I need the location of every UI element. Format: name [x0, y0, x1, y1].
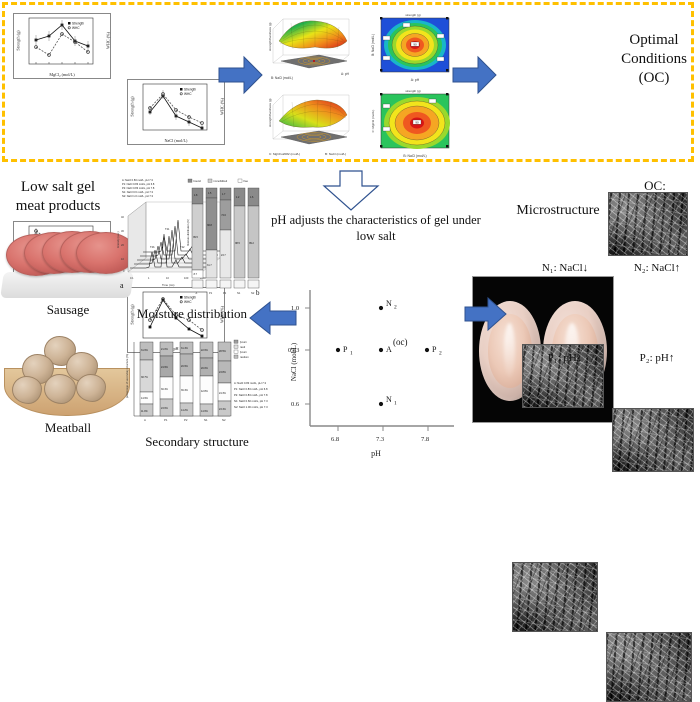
sem-image-p1 [512, 562, 598, 632]
arrow-right-icon-3 [464, 296, 508, 332]
axis-label-y-left: Strength (g) [16, 23, 21, 59]
svg-text:1: 1 [350, 351, 353, 357]
svg-text:A: A [386, 345, 392, 354]
svg-text:WHC: WHC [184, 92, 192, 96]
svg-text:percentage of secondary struct: percentage of secondary structure (%) [125, 354, 129, 398]
svg-text:N2: N2 [251, 291, 255, 295]
svg-text:A: A [144, 418, 146, 422]
meatball-photo [0, 330, 136, 418]
svg-text:6.8: 6.8 [331, 436, 339, 443]
svg-text:immobilized: immobilized [214, 179, 228, 183]
svg-text:1.0: 1.0 [291, 305, 299, 312]
svg-text:7.3: 7.3 [376, 436, 384, 443]
svg-text:free: free [244, 179, 249, 183]
svg-text:0.1: 0.1 [130, 276, 134, 280]
svg-text:P: P [432, 345, 437, 354]
svg-text:21.0%: 21.0% [161, 348, 169, 351]
rsm-optimization-panel: Strength WHC MgCl₂ (mol/L) Strength (g) … [2, 2, 694, 162]
svg-text:N2: N2 [222, 418, 226, 422]
contour-plot-ph-nacl: strength (g) 90 A: pH B: NaCl [367, 11, 459, 85]
axis-label-x: NaCl (mol/L) [128, 138, 224, 143]
line-chart-nacl: Strength WHC NaCl (mol/L) Strength (g) W… [127, 79, 225, 145]
svg-text:11.9%: 11.9% [141, 410, 148, 413]
svg-text:NaCl (mol/L): NaCl (mol/L) [290, 342, 298, 381]
svg-text:23.7: 23.7 [221, 254, 226, 257]
svg-text:31.4%: 31.4% [181, 347, 189, 350]
svg-text:N1: NaCl 0.60 mol/L, pH 7.3: N1: NaCl 0.60 mol/L, pH 7.3 [234, 399, 268, 403]
oc-line-2: Conditions [613, 50, 695, 69]
axis-label-x: MgCl₂ (mol/L) [14, 72, 110, 77]
optimal-conditions-caption: Optimal Conditions (OC) [613, 31, 695, 87]
svg-text:28.5%: 28.5% [219, 350, 227, 353]
svg-text:strength (g): strength (g) [405, 89, 420, 93]
oc-line-3: (OC) [613, 69, 695, 88]
svg-text:22.6%: 22.6% [201, 349, 209, 352]
svg-text:C: MgCl\u2082 (mol/L): C: MgCl\u2082 (mol/L) [269, 152, 300, 156]
svg-text:0.6: 0.6 [291, 401, 300, 408]
svg-text:P2: NaCl 0.83 mol/L, pH 7.8: P2: NaCl 0.83 mol/L, pH 7.8 [234, 393, 268, 397]
svg-text:N1: NaCl 0.6 mol/L, pH 7.3: N1: NaCl 0.6 mol/L, pH 7.3 [122, 190, 154, 194]
svg-text:T2b: T2b [150, 245, 155, 249]
microstructure-label: Microstructure [498, 203, 618, 219]
svg-text:a: a [120, 281, 124, 290]
svg-text:40: 40 [121, 215, 124, 219]
left-heading-line1: Low salt gel [2, 178, 114, 197]
svg-text:β-turn: β-turn [240, 340, 247, 344]
svg-text:89.2: 89.2 [249, 242, 254, 245]
svg-text:B: NaCl (mol/L): B: NaCl (mol/L) [371, 34, 375, 56]
svg-text:90: 90 [415, 121, 419, 125]
svg-text:Intensity (a.u.): Intensity (a.u.) [116, 231, 120, 248]
sem-image-oc [608, 192, 688, 256]
svg-text:89.5: 89.5 [193, 236, 198, 239]
svg-text:A: NaCl 0.83 mol/L, pH 7.3: A: NaCl 0.83 mol/L, pH 7.3 [234, 381, 266, 385]
svg-text:C: MgCl2 (mol/L): C: MgCl2 (mol/L) [371, 110, 375, 133]
svg-text:N: N [386, 395, 392, 404]
svg-text:WHC: WHC [184, 300, 192, 304]
svg-text:P1: P1 [209, 291, 213, 295]
svg-text:20: 20 [121, 243, 124, 247]
sem-label-p1: P₁: pH↓ [520, 352, 610, 364]
svg-text:0: 0 [123, 269, 125, 273]
sem-label-n1: N₁: NaCl↓ [520, 262, 610, 274]
svg-text:T22: T22 [180, 245, 185, 249]
svg-text:N: N [386, 299, 392, 308]
svg-text:24.9%: 24.9% [161, 366, 169, 369]
svg-text:P2: P2 [223, 291, 227, 295]
svg-text:2: 2 [394, 305, 397, 311]
svg-text:B: NaCl (mol/L): B: NaCl (mol/L) [325, 152, 346, 156]
surface-plot-ph-nacl: strength/hardness (g) B: NaCl (mol/L) A:… [263, 11, 363, 85]
svg-text:N2: NaCl 1.0 mol/L, pH 7.3: N2: NaCl 1.0 mol/L, pH 7.3 [122, 194, 154, 198]
surface-plot-nacl-mgcl2: strength/hardness (g) C: MgCl\u2082 (mol… [263, 87, 363, 161]
svg-text:38.7%: 38.7% [141, 376, 149, 379]
svg-text:A: pH: A: pH [411, 78, 420, 82]
svg-text:7.8: 7.8 [421, 436, 429, 443]
svg-text:P1: P1 [164, 418, 168, 422]
svg-text:Strength: Strength [184, 296, 196, 300]
svg-text:T21: T21 [165, 227, 170, 231]
svg-text:1: 1 [394, 401, 397, 407]
svg-text:2: 2 [439, 351, 442, 357]
svg-text:B: NaCl (mol/L): B: NaCl (mol/L) [271, 76, 293, 80]
svg-text:42.8%: 42.8% [201, 390, 209, 393]
sem-label-n2: N₂: NaCl↑ [612, 262, 700, 274]
svg-text:10: 10 [166, 276, 169, 280]
sem-image-p2 [606, 632, 692, 702]
svg-text:N1: N1 [204, 418, 208, 422]
secondary-structure-chart: β-turn rand β-turn random [122, 338, 268, 430]
svg-text:1: 1 [148, 276, 150, 280]
svg-text:P1: NaCl 0.83 mol/L, pH 6.8: P1: NaCl 0.83 mol/L, pH 6.8 [122, 182, 155, 186]
svg-text:P2: P2 [184, 418, 188, 422]
arrow-down-icon [320, 170, 382, 212]
svg-text:90: 90 [413, 43, 417, 47]
svg-text:B: NaCl (mol/L): B: NaCl (mol/L) [403, 154, 426, 158]
svg-text:rand: rand [240, 345, 246, 349]
svg-text:A: pH: A: pH [341, 72, 350, 76]
axis-label-y-right: WHC (%) [106, 23, 111, 59]
svg-text:24.3%: 24.3% [219, 392, 227, 395]
svg-text:23.6%: 23.6% [161, 407, 169, 410]
svg-text:Moisture distribution (%): Moisture distribution (%) [187, 219, 190, 246]
svg-text:14.6%: 14.6% [201, 410, 209, 413]
svg-text:P2: NaCl 0.83 mol/L, pH 7.8: P2: NaCl 0.83 mol/L, pH 7.8 [122, 186, 155, 190]
svg-text:88.5: 88.5 [235, 242, 240, 245]
svg-text:23.8%: 23.8% [219, 371, 227, 374]
arrow-right-icon-2 [452, 53, 498, 97]
svg-text:Time (ms): Time (ms) [162, 283, 175, 287]
figure-statement: pH adjusts the characteristics of gel un… [262, 212, 490, 245]
svg-text:P: P [343, 345, 348, 354]
svg-text:WHC: WHC [72, 26, 80, 30]
sem-label-p2: P₂: pH↑ [612, 352, 700, 364]
svg-text:20.0%: 20.0% [201, 367, 209, 370]
svg-text:(oc): (oc) [393, 337, 408, 347]
svg-text:A: A [196, 291, 198, 295]
svg-text:strength/hardness (g): strength/hardness (g) [268, 22, 272, 51]
svg-text:N1: N1 [237, 291, 241, 295]
svg-text:b: b [256, 289, 260, 296]
svg-text:N2: NaCl 1.00 mol/L, pH 7.3: N2: NaCl 1.00 mol/L, pH 7.3 [234, 405, 268, 409]
svg-text:74.6: 74.6 [221, 214, 226, 217]
svg-text:14.9%: 14.9% [141, 397, 149, 400]
svg-text:10: 10 [121, 257, 124, 261]
svg-text:30: 30 [121, 229, 124, 233]
svg-text:14.2%: 14.2% [181, 409, 189, 412]
axis-label-y-left: Strength (g) [130, 89, 135, 125]
left-heading: Low salt gel meat products [2, 178, 114, 216]
svg-text:30.4%: 30.4% [161, 388, 169, 391]
contour-plot-nacl-mgcl2: strength (g) 90 B: NaCl (mol/L) C: MgCl2… [367, 87, 459, 161]
left-heading-line2: meat products [2, 197, 114, 216]
svg-text:23.4%: 23.4% [219, 408, 227, 411]
svg-text:pH: pH [371, 449, 381, 458]
svg-text:strength (g): strength (g) [405, 13, 420, 17]
secondary-structure-label: Secondary structure [112, 434, 282, 450]
svg-text:A: NaCl 0.83 mol/L, pH 7.3: A: NaCl 0.83 mol/L, pH 7.3 [122, 178, 153, 182]
svg-text:Strength: Strength [72, 22, 84, 26]
moisture-stacked-bar-chart: bound immobilized free 1.889.58.7 1.566.… [186, 176, 262, 296]
svg-text:P1: NaCl 0.83 mol/L, pH 6.8: P1: NaCl 0.83 mol/L, pH 6.8 [234, 387, 268, 391]
design-point-scatter: 1.00.830.6 6.87.37.8 N2 P1 A (oc) P2 N1 … [288, 284, 468, 462]
svg-text:Strength: Strength [184, 88, 196, 92]
svg-text:random: random [240, 355, 249, 359]
svg-text:bound: bound [194, 179, 202, 183]
svg-text:31.6%: 31.6% [141, 349, 149, 352]
line-chart-mgcl2: Strength WHC MgCl₂ (mol/L) Strength (g) … [13, 13, 111, 79]
svg-text:36.4%: 36.4% [181, 389, 189, 392]
svg-text:β-turn: β-turn [240, 350, 247, 354]
svg-text:31.7: 31.7 [207, 264, 212, 267]
oc-line-1: Optimal [613, 31, 695, 50]
sem-image-n2 [612, 408, 694, 472]
svg-text:20.9%: 20.9% [181, 365, 189, 368]
svg-text:66.8: 66.8 [207, 224, 212, 227]
svg-text:strength/hardness (g): strength/hardness (g) [268, 98, 272, 127]
arrow-right-icon-1 [218, 53, 264, 97]
